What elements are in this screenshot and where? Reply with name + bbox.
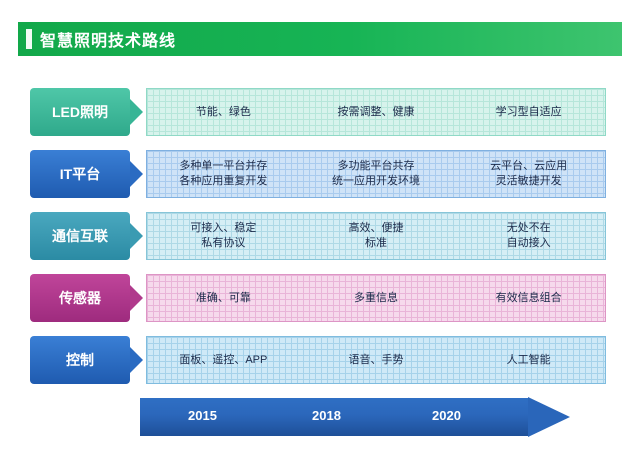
row-body-sensor: 准确、可靠 多重信息 有效信息组合 bbox=[146, 274, 606, 322]
roadmap-row-communication: 通信互联 可接入、稳定 私有协议 高效、便捷 标准 无处不在 自动接入 bbox=[30, 212, 606, 260]
row-label-communication[interactable]: 通信互联 bbox=[30, 212, 130, 260]
row-label-communication-text: 通信互联 bbox=[52, 226, 108, 246]
cell-sensor-1: 多重信息 bbox=[300, 291, 453, 306]
timeline-year-2018: 2018 bbox=[312, 408, 341, 423]
cell-sensor-2: 有效信息组合 bbox=[452, 291, 605, 306]
row-body-control: 面板、遥控、APP 语音、手势 人工智能 bbox=[146, 336, 606, 384]
cell-communication-0: 可接入、稳定 私有协议 bbox=[147, 221, 300, 251]
row-label-it[interactable]: IT平台 bbox=[30, 150, 130, 198]
cell-led-0: 节能、绿色 bbox=[147, 105, 300, 120]
row-body-led: 节能、绿色 按需调整、健康 学习型自适应 bbox=[146, 88, 606, 136]
title-banner: 智慧照明技术路线 bbox=[18, 22, 622, 56]
cell-it-2: 云平台、云应用 灵活敏捷开发 bbox=[452, 159, 605, 189]
row-body-communication: 可接入、稳定 私有协议 高效、便捷 标准 无处不在 自动接入 bbox=[146, 212, 606, 260]
row-label-control[interactable]: 控制 bbox=[30, 336, 130, 384]
row-label-sensor[interactable]: 传感器 bbox=[30, 274, 130, 322]
roadmap-row-control: 控制 面板、遥控、APP 语音、手势 人工智能 bbox=[30, 336, 606, 384]
cell-control-2: 人工智能 bbox=[452, 353, 605, 368]
row-label-it-text: IT平台 bbox=[60, 164, 100, 184]
timeline-year-2020: 2020 bbox=[432, 408, 461, 423]
cell-sensor-0: 准确、可靠 bbox=[147, 291, 300, 306]
page-title: 智慧照明技术路线 bbox=[40, 27, 176, 51]
cell-control-1: 语音、手势 bbox=[300, 353, 453, 368]
cell-communication-1: 高效、便捷 标准 bbox=[300, 221, 453, 251]
roadmap-row-led: LED照明 节能、绿色 按需调整、健康 学习型自适应 bbox=[30, 88, 606, 136]
roadmap-row-it: IT平台 多种单一平台并存 各种应用重复开发 多功能平台共存 统一应用开发环境 … bbox=[30, 150, 606, 198]
cell-it-0: 多种单一平台并存 各种应用重复开发 bbox=[147, 159, 300, 189]
roadmap-row-sensor: 传感器 准确、可靠 多重信息 有效信息组合 bbox=[30, 274, 606, 322]
cell-control-0: 面板、遥控、APP bbox=[147, 353, 300, 368]
cell-communication-2: 无处不在 自动接入 bbox=[452, 221, 605, 251]
title-accent-bar bbox=[26, 29, 32, 49]
row-label-led[interactable]: LED照明 bbox=[30, 88, 130, 136]
timeline-year-2015: 2015 bbox=[188, 408, 217, 423]
cell-it-1: 多功能平台共存 统一应用开发环境 bbox=[300, 159, 453, 189]
cell-led-2: 学习型自适应 bbox=[452, 105, 605, 120]
timeline-arrow-head-icon bbox=[528, 397, 570, 437]
row-label-led-text: LED照明 bbox=[52, 102, 108, 122]
cell-led-1: 按需调整、健康 bbox=[300, 105, 453, 120]
row-body-it: 多种单一平台并存 各种应用重复开发 多功能平台共存 统一应用开发环境 云平台、云… bbox=[146, 150, 606, 198]
row-label-sensor-text: 传感器 bbox=[59, 288, 101, 308]
timeline-arrow: 2015 2018 2020 bbox=[140, 398, 570, 436]
row-label-control-text: 控制 bbox=[66, 350, 94, 370]
